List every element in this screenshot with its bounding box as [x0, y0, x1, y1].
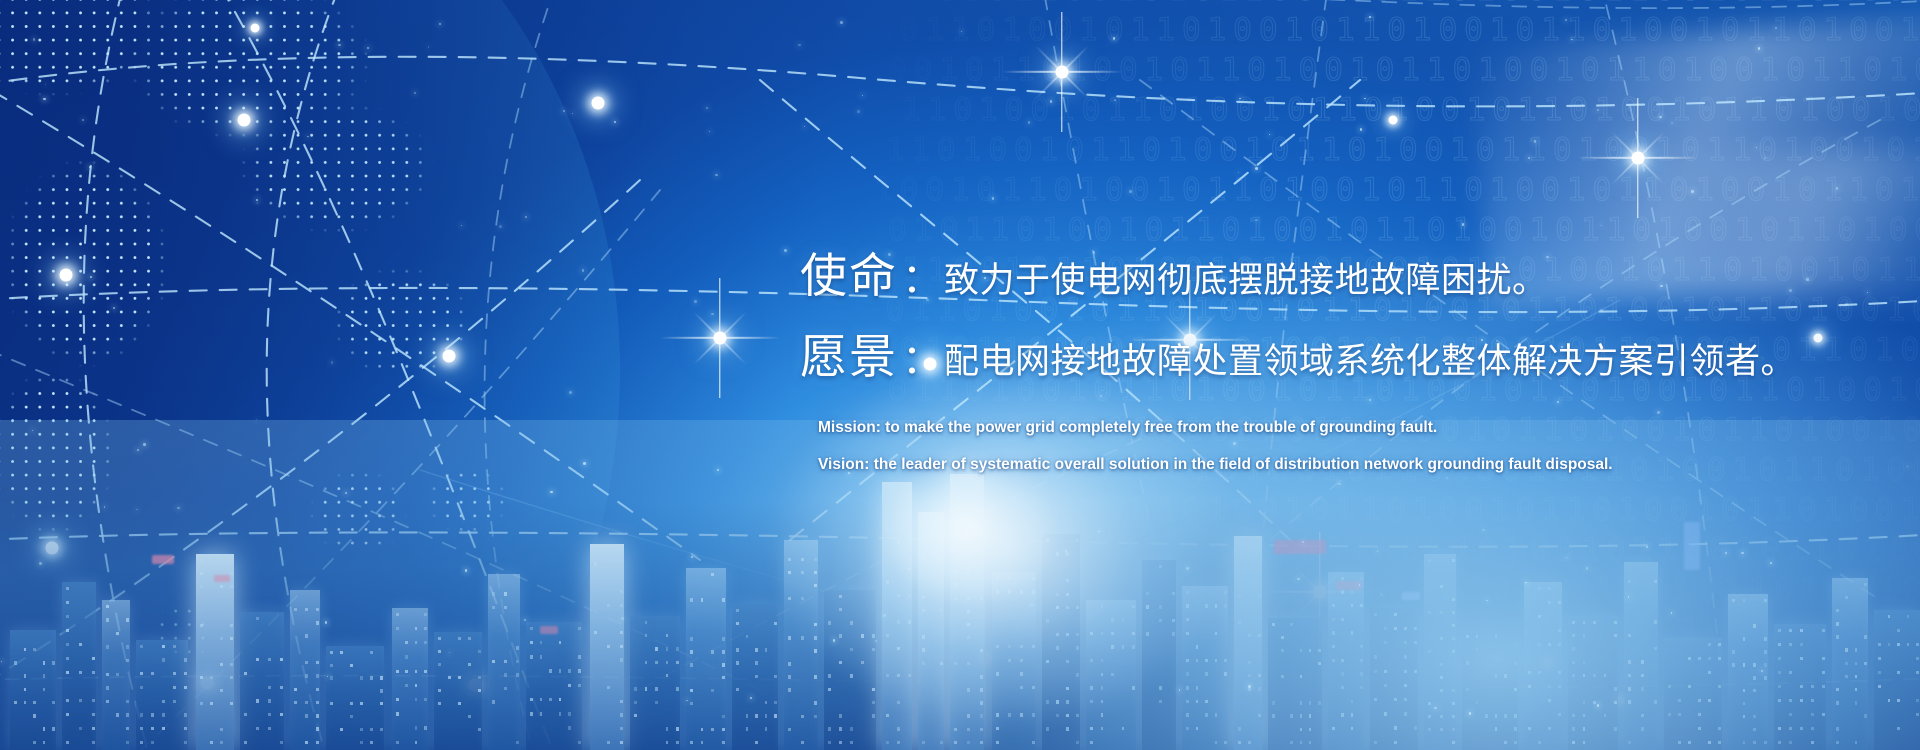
mission-label: 使命 [800, 249, 898, 302]
vision-colon: ： [898, 338, 944, 382]
vision-english-line: Vision: the leader of systematic overall… [818, 457, 1878, 473]
mission-vision-banner: 0100101100101011001001101001011001011010… [0, 0, 1920, 750]
vision-label: 愿景 [800, 330, 898, 383]
english-subtext-block: Mission: to make the power grid complete… [818, 420, 1878, 472]
mission-headline: 使命：致力于使电网彻底摆脱接地故障困扰。 [800, 252, 1810, 299]
mission-statement: 致力于使电网彻底摆脱接地故障困扰。 [944, 261, 1548, 300]
mission-english-line: Mission: to make the power grid complete… [818, 420, 1878, 436]
headline-text-block: 使命：致力于使电网彻底摆脱接地故障困扰。 愿景：配电网接地故障处置领域系统化整体… [800, 252, 1810, 380]
vision-headline: 愿景：配电网接地故障处置领域系统化整体解决方案引领者。 [800, 333, 1810, 380]
vision-statement: 配电网接地故障处置领域系统化整体解决方案引领者。 [944, 342, 1796, 381]
mission-colon: ： [898, 257, 944, 301]
